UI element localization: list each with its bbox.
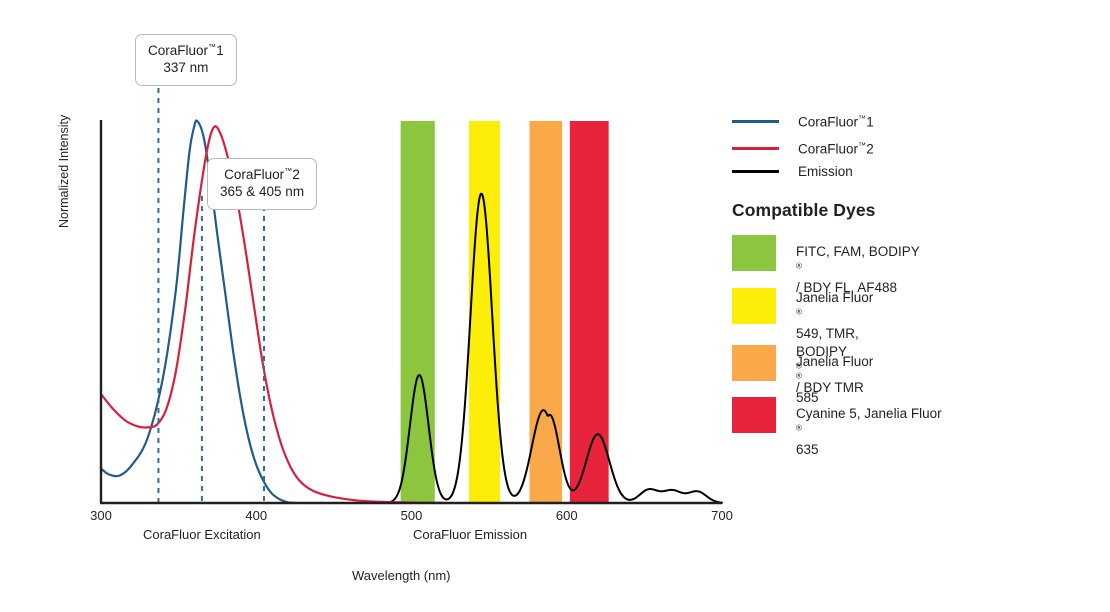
y-axis-title: Normalized Intensity bbox=[57, 115, 71, 228]
x-tick-label-300: 300 bbox=[78, 508, 124, 523]
channel-band-orange bbox=[529, 121, 562, 503]
trademark-icon: ™ bbox=[208, 43, 216, 52]
callout-cf1-line2: 337 nm bbox=[148, 59, 224, 76]
channel-band-green bbox=[401, 121, 435, 503]
trademark-icon: ™ bbox=[858, 141, 866, 150]
legend-series-row-1[interactable]: CoraFluor™1 bbox=[732, 114, 874, 130]
chart-page: Normalized Intensity Wavelength (nm) Cor… bbox=[0, 0, 1110, 612]
dye-line1-pre: FITC, FAM, BODIPY bbox=[796, 243, 920, 261]
legend-dye-label-line1: Janelia Fluor® 549, TMR, bbox=[796, 289, 873, 343]
legend-dye-label-4: Cyanine 5, Janelia Fluor® 635 bbox=[796, 397, 942, 459]
legend-series-label-suffix: 2 bbox=[866, 142, 874, 157]
registered-trademark-icon: ® bbox=[796, 423, 802, 432]
legend-series-label-base: Emission bbox=[798, 164, 853, 179]
x-tick-label-500: 500 bbox=[389, 508, 435, 523]
registered-trademark-icon: ® bbox=[796, 371, 802, 380]
legend-dye-label-line1: Cyanine 5, Janelia Fluor® 635 bbox=[796, 405, 942, 459]
x-axis-region-label-excitation: CoraFluor Excitation bbox=[143, 527, 261, 542]
x-axis-region-label-emission: CoraFluor Emission bbox=[413, 527, 527, 542]
callout-corafluor-2: CoraFluor™2 365 & 405 nm bbox=[207, 158, 317, 210]
legend-series-row-2[interactable]: CoraFluor™2 bbox=[732, 141, 874, 157]
dye-line1-pre: Cyanine 5, Janelia Fluor bbox=[796, 405, 942, 423]
dye-color-swatch-2 bbox=[732, 288, 776, 324]
chart-legend: CoraFluor™1CoraFluor™2Emission Compatibl… bbox=[730, 0, 1110, 612]
dye-line1-pre: Janelia Fluor bbox=[796, 353, 873, 371]
legend-series-label-1: CoraFluor™1 bbox=[798, 114, 874, 130]
callout-cf2-line2: 365 & 405 nm bbox=[220, 183, 304, 200]
legend-dye-row-4[interactable]: Cyanine 5, Janelia Fluor® 635 bbox=[732, 397, 942, 459]
callout-corafluor-1: CoraFluor™1 337 nm bbox=[135, 34, 237, 86]
line-swatch-red bbox=[732, 147, 779, 150]
spectra-chart: Normalized Intensity Wavelength (nm) Cor… bbox=[0, 0, 730, 612]
registered-trademark-icon: ® bbox=[796, 307, 802, 316]
line-swatch-blue bbox=[732, 120, 779, 123]
legend-series-label-3: Emission bbox=[798, 164, 853, 179]
line-swatch-black bbox=[732, 170, 779, 173]
callout-cf2-line1: CoraFluor™2 bbox=[220, 166, 304, 183]
dye-color-swatch-4 bbox=[732, 397, 776, 433]
dye-color-swatch-1 bbox=[732, 235, 776, 271]
compatible-dyes-heading: Compatible Dyes bbox=[732, 200, 875, 221]
legend-series-row-3[interactable]: Emission bbox=[732, 164, 853, 179]
trademark-icon: ™ bbox=[858, 114, 866, 123]
legend-series-label-base: CoraFluor bbox=[798, 142, 858, 157]
legend-series-label-2: CoraFluor™2 bbox=[798, 141, 874, 157]
dye-color-swatch-3 bbox=[732, 345, 776, 381]
x-tick-label-400: 400 bbox=[233, 508, 279, 523]
legend-series-label-base: CoraFluor bbox=[798, 115, 858, 130]
legend-series-label-suffix: 1 bbox=[866, 115, 874, 130]
dye-line1-post: 635 bbox=[796, 441, 942, 459]
channel-band-red bbox=[570, 121, 609, 503]
callout-cf1-line1: CoraFluor™1 bbox=[148, 42, 224, 59]
x-tick-label-600: 600 bbox=[544, 508, 590, 523]
registered-trademark-icon: ® bbox=[796, 261, 802, 270]
x-axis-title: Wavelength (nm) bbox=[352, 568, 451, 583]
channel-band-yellow bbox=[469, 121, 500, 503]
dye-line1-post: 549, TMR, bbox=[796, 325, 873, 343]
dye-line1-pre: Janelia Fluor bbox=[796, 289, 873, 307]
